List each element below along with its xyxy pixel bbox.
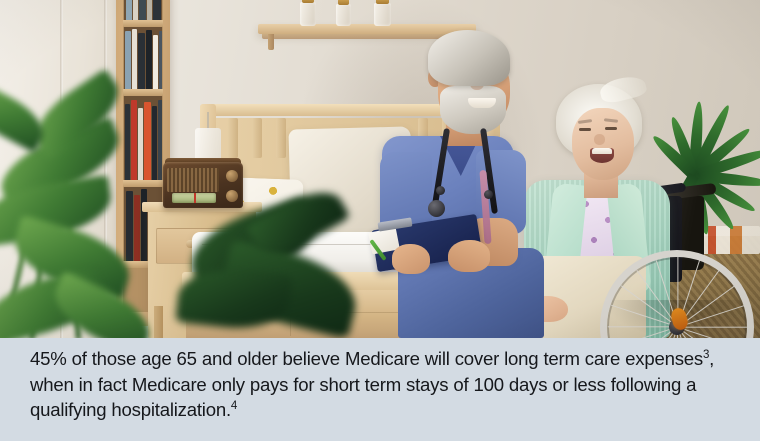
nurse-mouth (468, 98, 496, 108)
footnote-ref-4: 4 (231, 400, 237, 412)
foreground-plant-center (188, 196, 358, 338)
bed-headboard-slat (276, 118, 286, 158)
woman-eye-left (579, 128, 591, 131)
stethoscope-connector (436, 186, 445, 195)
woman-teeth (592, 148, 612, 154)
caption-statistic-text: 45% of those age 65 and older believe Me… (30, 346, 736, 423)
slide-frame: 45% of those age 65 and older believe Me… (0, 0, 760, 441)
nurse-hand-left (392, 244, 430, 274)
shelf-jar (336, 4, 351, 26)
wheel-spoke (608, 326, 678, 327)
shelf-jar (374, 3, 391, 26)
bookcase-bay (124, 0, 162, 20)
nurse-beard (440, 86, 506, 134)
nurse-hair (428, 30, 510, 86)
woman-nose (594, 134, 605, 145)
wheel-spoke (678, 326, 748, 327)
nurse-hand-right (448, 240, 490, 272)
caption-line-1: 45% of those age 65 and older believe Me… (30, 348, 620, 369)
shelf-jar (300, 2, 316, 26)
radio-knob (226, 170, 238, 182)
stethoscope-chestpiece (428, 200, 445, 217)
bookcase-shelf-divider (123, 20, 163, 27)
wall-shelf (258, 24, 476, 34)
shelf-jar-lid (338, 0, 349, 5)
wheel-spoke (677, 326, 744, 338)
shelf-jar-lid (302, 0, 314, 3)
plant-leaf (175, 264, 292, 333)
wall-shelf-bracket (268, 34, 274, 50)
book (147, 0, 152, 20)
shelf-jar-lid (376, 0, 389, 4)
bed-headboard-slat (228, 118, 238, 158)
book (139, 0, 146, 20)
book (133, 0, 138, 20)
foreground-plant-left (0, 34, 202, 338)
wheel-spoke (611, 305, 678, 328)
bed-headboard-slat (252, 118, 262, 158)
caption-band: 45% of those age 65 and older believe Me… (0, 338, 760, 441)
stethoscope-connector (484, 190, 493, 199)
book (126, 0, 132, 20)
woman-eye-right (605, 127, 617, 130)
caption-line-2-a: expenses (625, 348, 703, 369)
book (153, 0, 161, 20)
photo-illustration (0, 0, 760, 338)
